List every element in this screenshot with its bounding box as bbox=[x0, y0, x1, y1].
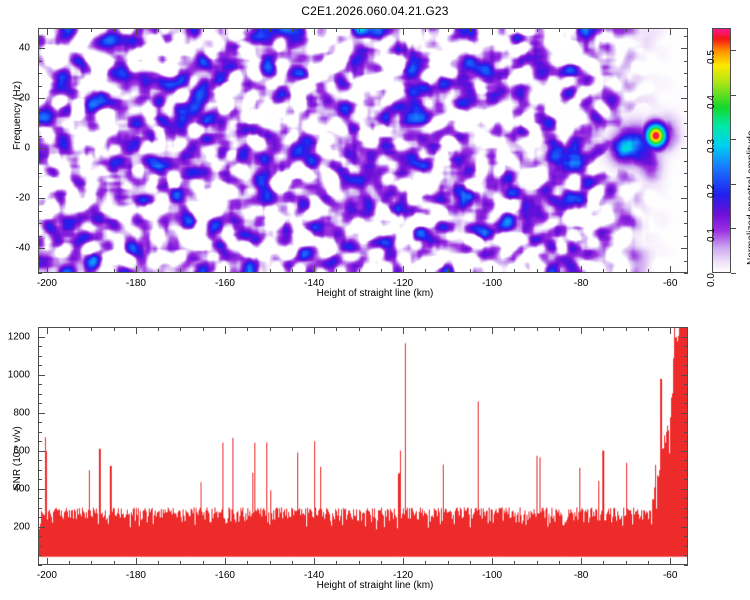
major-tick-y bbox=[38, 98, 45, 99]
minor-tick-y bbox=[38, 136, 42, 137]
page-title: C2E1.2026.060.04.21.G23 bbox=[0, 4, 750, 18]
colorbar-tick bbox=[731, 273, 736, 274]
major-tick-x bbox=[136, 266, 137, 273]
minor-tick-x bbox=[203, 269, 204, 273]
major-tick-x bbox=[136, 327, 137, 334]
minor-tick-x bbox=[359, 561, 360, 565]
minor-tick-x bbox=[603, 561, 604, 565]
minor-tick-y bbox=[684, 555, 688, 556]
minor-tick-y bbox=[684, 403, 688, 404]
minor-tick-y bbox=[684, 211, 688, 212]
minor-tick-y bbox=[38, 223, 42, 224]
major-tick-x bbox=[492, 28, 493, 35]
major-tick-y bbox=[681, 413, 688, 414]
minor-tick-x bbox=[359, 28, 360, 32]
ytick-label: -40 bbox=[16, 243, 30, 254]
minor-tick-y bbox=[38, 565, 42, 566]
minor-tick-x bbox=[470, 561, 471, 565]
colorbar-tick bbox=[731, 95, 736, 96]
colorbar-tick bbox=[731, 50, 736, 51]
minor-tick-x bbox=[559, 561, 560, 565]
major-tick-x bbox=[47, 327, 48, 334]
major-tick-x bbox=[314, 28, 315, 35]
major-tick-y bbox=[38, 375, 45, 376]
major-tick-x bbox=[47, 266, 48, 273]
minor-tick-x bbox=[91, 28, 92, 32]
minor-tick-x bbox=[537, 327, 538, 331]
minor-tick-y bbox=[38, 111, 42, 112]
major-tick-x bbox=[581, 266, 582, 273]
minor-tick-y bbox=[684, 441, 688, 442]
minor-tick-y bbox=[38, 394, 42, 395]
minor-tick-y bbox=[684, 173, 688, 174]
minor-tick-x bbox=[158, 28, 159, 32]
minor-tick-x bbox=[114, 327, 115, 331]
minor-tick-x bbox=[626, 561, 627, 565]
minor-tick-y bbox=[684, 161, 688, 162]
minor-tick-y bbox=[684, 36, 688, 37]
colorbar-tick bbox=[731, 228, 736, 229]
minor-tick-y bbox=[684, 236, 688, 237]
minor-tick-x bbox=[470, 269, 471, 273]
minor-tick-x bbox=[203, 327, 204, 331]
minor-tick-x bbox=[247, 28, 248, 32]
minor-tick-x bbox=[514, 269, 515, 273]
minor-tick-x bbox=[180, 28, 181, 32]
minor-tick-x bbox=[69, 28, 70, 32]
ytick-label: 200 bbox=[13, 521, 30, 532]
minor-tick-x bbox=[203, 561, 204, 565]
minor-tick-x bbox=[514, 327, 515, 331]
minor-tick-x bbox=[470, 327, 471, 331]
minor-tick-x bbox=[537, 269, 538, 273]
minor-tick-x bbox=[270, 327, 271, 331]
ytick-label: 0 bbox=[24, 143, 30, 154]
minor-tick-x bbox=[448, 327, 449, 331]
minor-tick-x bbox=[91, 269, 92, 273]
minor-tick-y bbox=[38, 86, 42, 87]
ytick-label: -20 bbox=[16, 193, 30, 204]
minor-tick-y bbox=[38, 479, 42, 480]
minor-tick-y bbox=[38, 211, 42, 212]
minor-tick-y bbox=[684, 394, 688, 395]
minor-tick-x bbox=[648, 269, 649, 273]
minor-tick-x bbox=[448, 269, 449, 273]
major-tick-x bbox=[47, 558, 48, 565]
minor-tick-y bbox=[684, 223, 688, 224]
minor-tick-x bbox=[359, 269, 360, 273]
minor-tick-y bbox=[684, 536, 688, 537]
major-tick-y bbox=[681, 48, 688, 49]
minor-tick-x bbox=[69, 269, 70, 273]
major-tick-x bbox=[136, 28, 137, 35]
minor-tick-x bbox=[180, 327, 181, 331]
minor-tick-x bbox=[336, 28, 337, 32]
minor-tick-y bbox=[684, 460, 688, 461]
minor-tick-x bbox=[336, 269, 337, 273]
minor-tick-x bbox=[69, 327, 70, 331]
minor-tick-y bbox=[684, 517, 688, 518]
minor-tick-y bbox=[38, 432, 42, 433]
colorbar-tick-label: 0.1 bbox=[706, 229, 717, 243]
minor-tick-y bbox=[38, 61, 42, 62]
major-tick-y bbox=[681, 198, 688, 199]
major-tick-x bbox=[314, 558, 315, 565]
minor-tick-x bbox=[626, 28, 627, 32]
minor-tick-y bbox=[684, 327, 688, 328]
major-tick-x bbox=[670, 558, 671, 565]
minor-tick-y bbox=[684, 186, 688, 187]
minor-tick-y bbox=[684, 61, 688, 62]
minor-tick-y bbox=[684, 356, 688, 357]
minor-tick-x bbox=[603, 269, 604, 273]
major-tick-y bbox=[681, 375, 688, 376]
minor-tick-y bbox=[38, 365, 42, 366]
major-tick-x bbox=[403, 558, 404, 565]
minor-tick-x bbox=[381, 561, 382, 565]
minor-tick-x bbox=[648, 561, 649, 565]
colorbar-tick-label: 0.2 bbox=[706, 184, 717, 198]
minor-tick-x bbox=[359, 327, 360, 331]
minor-tick-x bbox=[247, 269, 248, 273]
minor-tick-x bbox=[603, 28, 604, 32]
spectrogram-panel bbox=[38, 28, 688, 273]
major-tick-x bbox=[492, 327, 493, 334]
minor-tick-y bbox=[38, 173, 42, 174]
minor-tick-x bbox=[114, 28, 115, 32]
major-tick-y bbox=[38, 148, 45, 149]
minor-tick-x bbox=[114, 269, 115, 273]
minor-tick-x bbox=[180, 561, 181, 565]
minor-tick-y bbox=[38, 460, 42, 461]
minor-tick-x bbox=[91, 561, 92, 565]
minor-tick-x bbox=[537, 28, 538, 32]
minor-tick-y bbox=[684, 422, 688, 423]
minor-tick-x bbox=[247, 327, 248, 331]
major-tick-x bbox=[47, 28, 48, 35]
minor-tick-y bbox=[684, 261, 688, 262]
major-tick-x bbox=[225, 28, 226, 35]
minor-tick-x bbox=[514, 28, 515, 32]
minor-tick-x bbox=[448, 28, 449, 32]
major-tick-x bbox=[403, 327, 404, 334]
minor-tick-x bbox=[270, 269, 271, 273]
minor-tick-x bbox=[336, 327, 337, 331]
major-tick-y bbox=[38, 198, 45, 199]
major-tick-x bbox=[403, 266, 404, 273]
minor-tick-y bbox=[38, 73, 42, 74]
ytick-label: 1200 bbox=[8, 331, 30, 342]
minor-tick-x bbox=[514, 561, 515, 565]
minor-tick-x bbox=[425, 327, 426, 331]
minor-tick-y bbox=[38, 470, 42, 471]
minor-tick-y bbox=[38, 327, 42, 328]
minor-tick-y bbox=[684, 346, 688, 347]
major-tick-y bbox=[38, 413, 45, 414]
ytick-label: 800 bbox=[13, 407, 30, 418]
minor-tick-x bbox=[559, 327, 560, 331]
minor-tick-y bbox=[684, 470, 688, 471]
ytick-label: 40 bbox=[19, 43, 30, 54]
minor-tick-x bbox=[381, 327, 382, 331]
minor-tick-x bbox=[247, 561, 248, 565]
minor-tick-y bbox=[38, 161, 42, 162]
minor-tick-y bbox=[38, 441, 42, 442]
minor-tick-x bbox=[381, 28, 382, 32]
minor-tick-x bbox=[91, 327, 92, 331]
major-tick-x bbox=[314, 327, 315, 334]
minor-tick-x bbox=[603, 327, 604, 331]
major-tick-x bbox=[670, 28, 671, 35]
minor-tick-x bbox=[537, 561, 538, 565]
minor-tick-y bbox=[38, 555, 42, 556]
minor-tick-y bbox=[684, 365, 688, 366]
minor-tick-x bbox=[448, 561, 449, 565]
minor-tick-y bbox=[684, 498, 688, 499]
minor-tick-x bbox=[292, 269, 293, 273]
major-tick-x bbox=[581, 558, 582, 565]
minor-tick-x bbox=[425, 561, 426, 565]
minor-tick-y bbox=[684, 273, 688, 274]
minor-tick-y bbox=[38, 236, 42, 237]
minor-tick-y bbox=[684, 123, 688, 124]
colorbar-label: Normalized spectral amplitude bbox=[746, 130, 750, 265]
minor-tick-x bbox=[336, 561, 337, 565]
major-tick-x bbox=[581, 28, 582, 35]
snr-xaxis-label: Height of straight line (km) bbox=[0, 580, 750, 591]
minor-tick-x bbox=[559, 28, 560, 32]
minor-tick-x bbox=[158, 269, 159, 273]
colorbar-tick-label: 0.0 bbox=[706, 273, 717, 287]
major-tick-y bbox=[38, 451, 45, 452]
minor-tick-x bbox=[425, 28, 426, 32]
minor-tick-y bbox=[38, 422, 42, 423]
snr-panel bbox=[38, 327, 688, 565]
figure-root: C2E1.2026.060.04.21.G23 -200-180-160-140… bbox=[0, 0, 750, 600]
minor-tick-x bbox=[470, 28, 471, 32]
major-tick-y bbox=[38, 337, 45, 338]
spectrogram-xaxis-label: Height of straight line (km) bbox=[0, 288, 750, 299]
minor-tick-y bbox=[684, 432, 688, 433]
minor-tick-y bbox=[684, 384, 688, 385]
snr-yaxis-label: SNR (10 ⁿ v/v) bbox=[12, 426, 23, 490]
minor-tick-x bbox=[270, 561, 271, 565]
major-tick-y bbox=[681, 527, 688, 528]
major-tick-x bbox=[403, 28, 404, 35]
minor-tick-x bbox=[425, 269, 426, 273]
minor-tick-x bbox=[381, 269, 382, 273]
minor-tick-y bbox=[684, 479, 688, 480]
minor-tick-y bbox=[38, 384, 42, 385]
minor-tick-y bbox=[38, 498, 42, 499]
minor-tick-x bbox=[69, 561, 70, 565]
major-tick-x bbox=[670, 327, 671, 334]
major-tick-x bbox=[225, 266, 226, 273]
major-tick-x bbox=[581, 327, 582, 334]
minor-tick-x bbox=[626, 327, 627, 331]
minor-tick-y bbox=[684, 546, 688, 547]
minor-tick-y bbox=[38, 403, 42, 404]
major-tick-y bbox=[38, 248, 45, 249]
minor-tick-y bbox=[38, 546, 42, 547]
minor-tick-x bbox=[292, 327, 293, 331]
colorbar-tick-label: 0.5 bbox=[706, 50, 717, 64]
minor-tick-x bbox=[270, 28, 271, 32]
major-tick-x bbox=[225, 327, 226, 334]
minor-tick-y bbox=[38, 36, 42, 37]
major-tick-y bbox=[681, 248, 688, 249]
minor-tick-y bbox=[684, 508, 688, 509]
minor-tick-x bbox=[203, 28, 204, 32]
minor-tick-x bbox=[114, 561, 115, 565]
minor-tick-y bbox=[38, 508, 42, 509]
major-tick-x bbox=[670, 266, 671, 273]
minor-tick-x bbox=[158, 561, 159, 565]
minor-tick-y bbox=[38, 261, 42, 262]
major-tick-y bbox=[38, 489, 45, 490]
major-tick-y bbox=[681, 337, 688, 338]
snr-canvas bbox=[39, 328, 687, 564]
minor-tick-y bbox=[684, 565, 688, 566]
minor-tick-y bbox=[684, 136, 688, 137]
spectrogram-yaxis-label: Frequency (Hz) bbox=[12, 81, 23, 150]
minor-tick-y bbox=[38, 517, 42, 518]
minor-tick-y bbox=[684, 86, 688, 87]
major-tick-y bbox=[681, 489, 688, 490]
major-tick-x bbox=[492, 266, 493, 273]
minor-tick-y bbox=[38, 346, 42, 347]
minor-tick-x bbox=[559, 269, 560, 273]
major-tick-x bbox=[225, 558, 226, 565]
minor-tick-y bbox=[684, 111, 688, 112]
ytick-label: 1000 bbox=[8, 369, 30, 380]
minor-tick-x bbox=[292, 561, 293, 565]
colorbar-tick-label: 0.4 bbox=[706, 95, 717, 109]
minor-tick-y bbox=[38, 273, 42, 274]
minor-tick-x bbox=[626, 269, 627, 273]
colorbar-tick-label: 0.3 bbox=[706, 139, 717, 153]
major-tick-x bbox=[314, 266, 315, 273]
minor-tick-x bbox=[648, 327, 649, 331]
minor-tick-y bbox=[38, 356, 42, 357]
spectrogram-canvas bbox=[39, 29, 687, 272]
major-tick-y bbox=[38, 48, 45, 49]
major-tick-y bbox=[38, 527, 45, 528]
minor-tick-x bbox=[292, 28, 293, 32]
major-tick-y bbox=[681, 98, 688, 99]
minor-tick-y bbox=[38, 536, 42, 537]
major-tick-x bbox=[492, 558, 493, 565]
colorbar-tick bbox=[731, 139, 736, 140]
colorbar-tick bbox=[731, 184, 736, 185]
minor-tick-x bbox=[180, 269, 181, 273]
major-tick-x bbox=[136, 558, 137, 565]
minor-tick-y bbox=[684, 73, 688, 74]
minor-tick-y bbox=[38, 123, 42, 124]
major-tick-y bbox=[681, 451, 688, 452]
minor-tick-x bbox=[648, 28, 649, 32]
minor-tick-x bbox=[158, 327, 159, 331]
minor-tick-y bbox=[38, 186, 42, 187]
major-tick-y bbox=[681, 148, 688, 149]
